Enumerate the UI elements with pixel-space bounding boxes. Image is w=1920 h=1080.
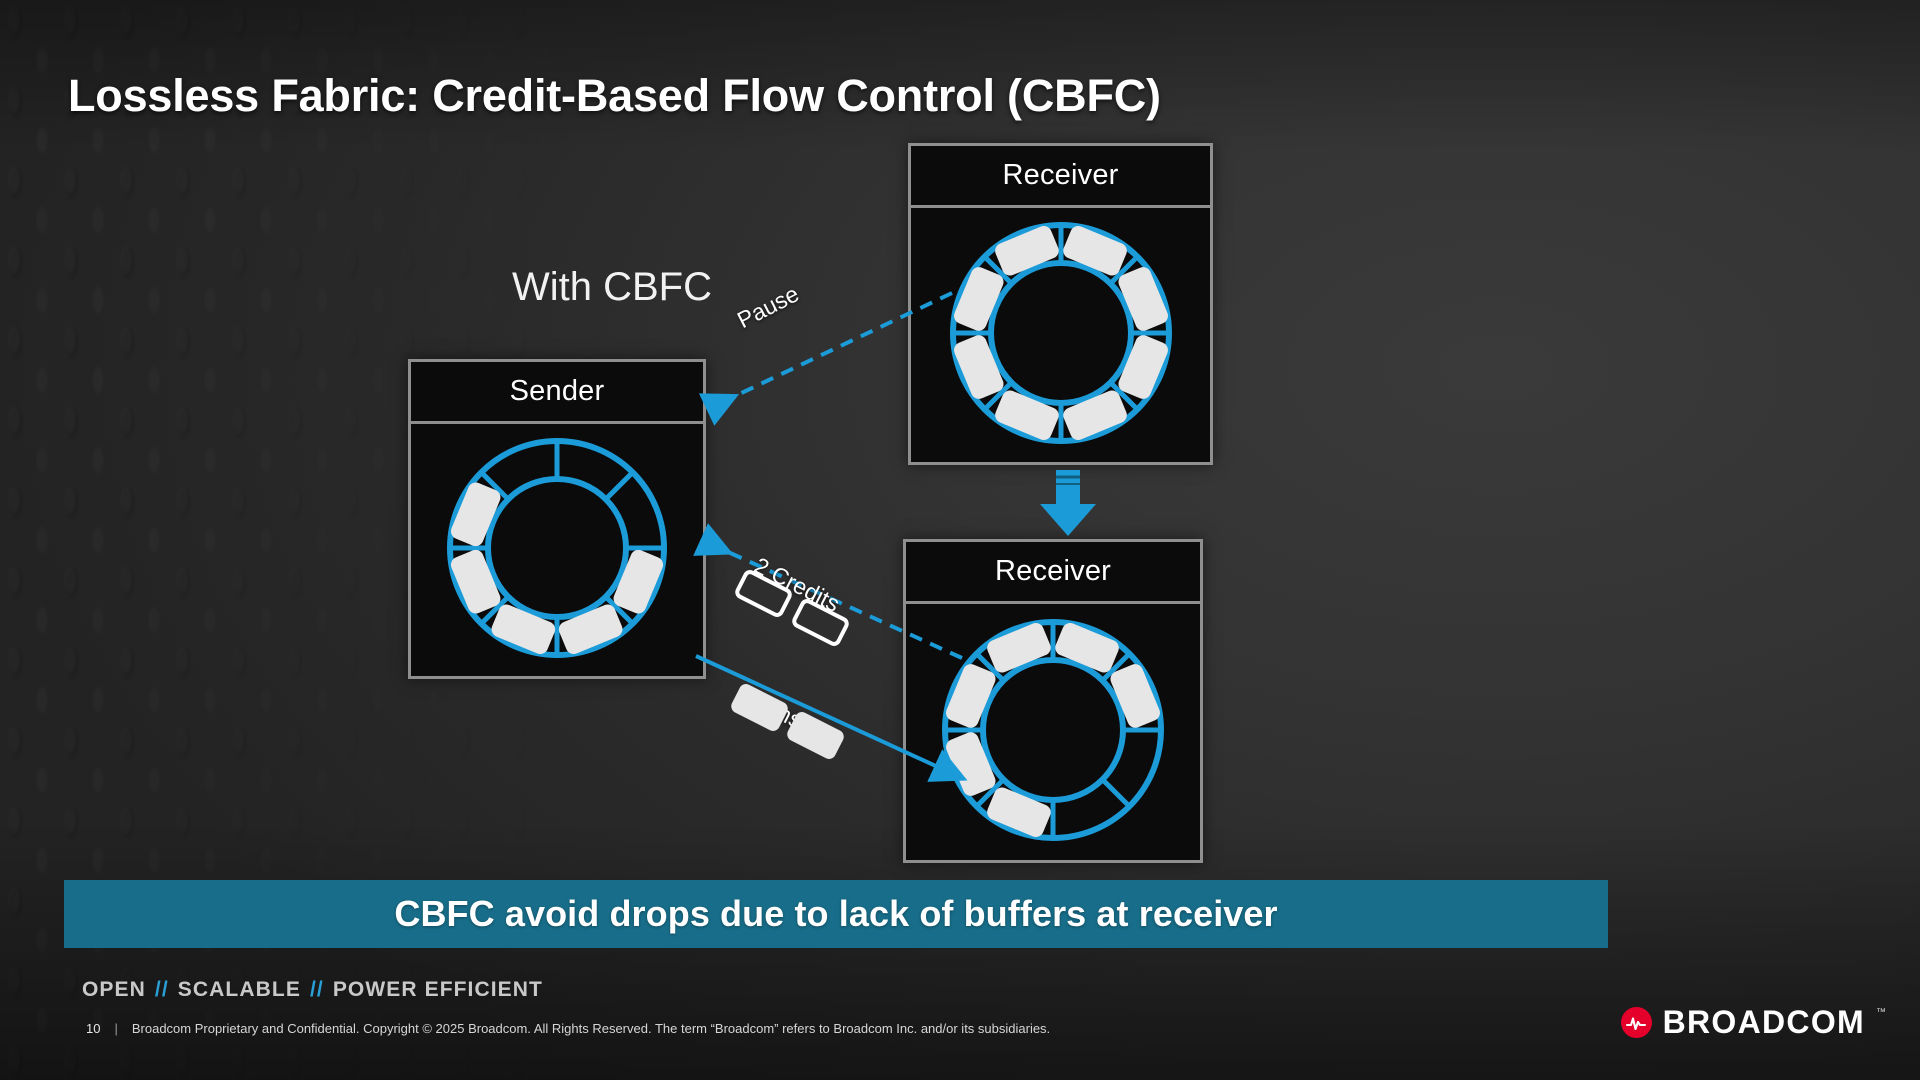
device-sender: Sender — [408, 359, 706, 679]
takeaway-banner-text: CBFC avoid drops due to lack of buffers … — [394, 893, 1277, 935]
tagline-slash-1: // — [155, 978, 169, 1002]
ring-buffer-sender — [431, 425, 683, 676]
ring-buffer-receiver-bottom — [926, 605, 1180, 860]
trademark-symbol: ™ — [1876, 1007, 1886, 1018]
broadcom-logo: BROADCOM ™ — [1621, 1004, 1886, 1041]
broadcom-pulse-icon — [1621, 1007, 1652, 1038]
footer-copyright: 10 | Broadcom Proprietary and Confidenti… — [86, 1021, 1050, 1036]
tagline-slash-2: // — [310, 978, 324, 1002]
footer-separator: | — [114, 1021, 117, 1036]
slide-canvas: Lossless Fabric: Credit-Based Flow Contr… — [0, 0, 1920, 1080]
device-header-receiver-bottom: Receiver — [906, 542, 1200, 604]
device-body-sender — [411, 424, 703, 676]
section-label-with-cbfc: With CBFC — [512, 265, 712, 310]
footer-tagline: OPEN // SCALABLE // POWER EFFICIENT — [82, 978, 543, 1002]
tagline-part-open: OPEN — [82, 978, 146, 1002]
pulse-glyph-icon — [1624, 1011, 1648, 1035]
device-body-receiver-top — [911, 208, 1210, 462]
device-label-receiver-bottom: Receiver — [995, 555, 1111, 588]
ring-buffer-svg-receiver-bottom — [926, 605, 1180, 855]
device-header-sender: Sender — [411, 362, 703, 424]
ring-buffer-svg-sender — [431, 425, 683, 671]
ring-buffer-svg-receiver-top — [933, 209, 1189, 457]
device-label-sender: Sender — [510, 375, 605, 408]
broadcom-wordmark: BROADCOM — [1663, 1004, 1865, 1041]
page-number: 10 — [86, 1021, 100, 1036]
device-receiver-top: Receiver — [908, 143, 1213, 465]
copyright-text: Broadcom Proprietary and Confidential. C… — [132, 1021, 1050, 1036]
takeaway-banner: CBFC avoid drops due to lack of buffers … — [64, 880, 1608, 948]
tagline-part-power-efficient: POWER EFFICIENT — [333, 978, 543, 1002]
device-label-receiver-top: Receiver — [1002, 159, 1118, 192]
device-receiver-bottom: Receiver — [903, 539, 1203, 863]
page-title: Lossless Fabric: Credit-Based Flow Contr… — [68, 70, 1161, 122]
ring-buffer-receiver-top — [933, 209, 1189, 462]
tagline-part-scalable: SCALABLE — [178, 978, 301, 1002]
device-body-receiver-bottom — [906, 604, 1200, 860]
device-header-receiver-top: Receiver — [911, 146, 1210, 208]
